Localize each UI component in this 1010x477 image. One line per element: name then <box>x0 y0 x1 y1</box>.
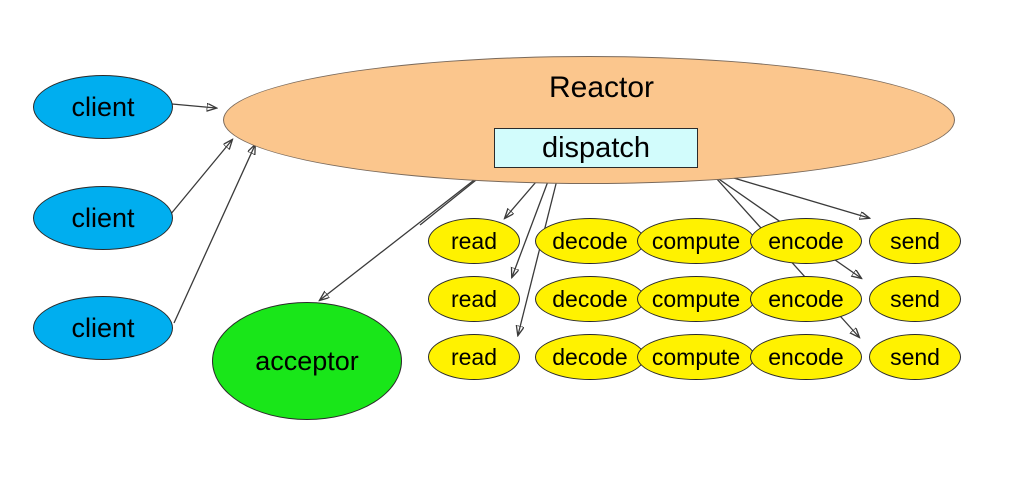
worker-encode-3[interactable]: encode <box>750 334 862 380</box>
worker-compute-2[interactable]: compute <box>637 276 755 322</box>
reactor-label: Reactor <box>549 71 654 105</box>
worker-encode-1[interactable]: encode <box>750 218 862 264</box>
worker-read-1[interactable]: read <box>428 218 520 264</box>
client-node-2[interactable]: client <box>33 186 173 250</box>
worker-encode-2[interactable]: encode <box>750 276 862 322</box>
dispatch-box[interactable]: dispatch <box>494 128 698 168</box>
worker-decode-2[interactable]: decode <box>535 276 645 322</box>
diagram-canvas: Reactor dispatch client client client ac… <box>0 0 1010 477</box>
worker-decode-1[interactable]: decode <box>535 218 645 264</box>
worker-send-3[interactable]: send <box>869 334 961 380</box>
worker-send-2[interactable]: send <box>869 276 961 322</box>
worker-decode-3[interactable]: decode <box>535 334 645 380</box>
client-node-3[interactable]: client <box>33 296 173 360</box>
worker-read-3[interactable]: read <box>428 334 520 380</box>
worker-compute-1[interactable]: compute <box>637 218 755 264</box>
acceptor-node[interactable]: acceptor <box>212 302 402 420</box>
worker-read-2[interactable]: read <box>428 276 520 322</box>
worker-compute-3[interactable]: compute <box>637 334 755 380</box>
client-node-1[interactable]: client <box>33 75 173 139</box>
edge-client1-reactor <box>172 104 216 108</box>
edge-client2-reactor <box>170 140 232 215</box>
edge-client3-reactor <box>174 145 255 323</box>
worker-send-1[interactable]: send <box>869 218 961 264</box>
